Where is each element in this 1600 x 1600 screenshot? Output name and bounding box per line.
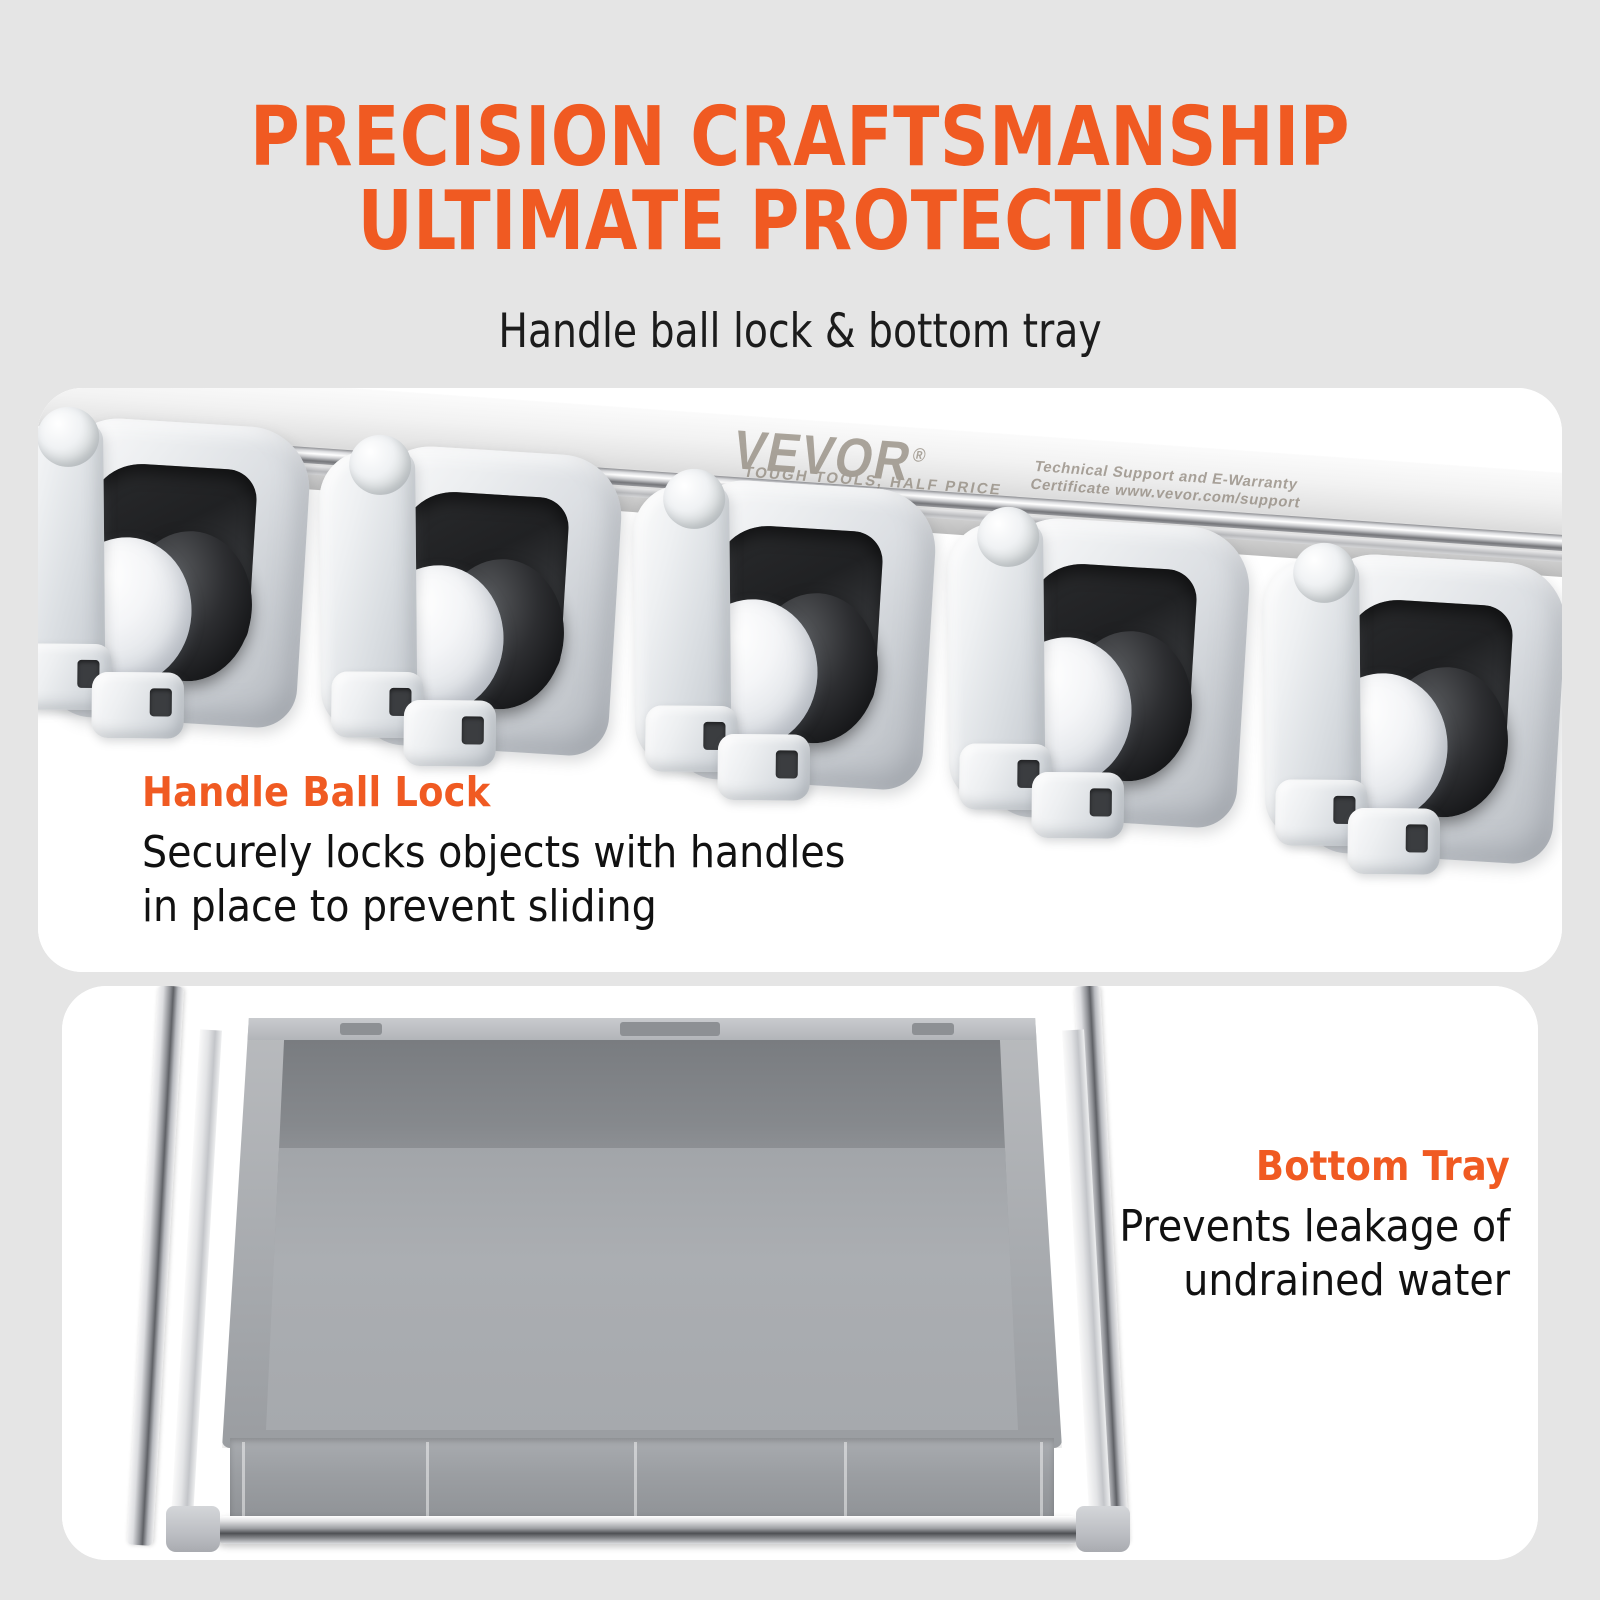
bottom-tray	[222, 1018, 1062, 1448]
ball-lock-module	[931, 512, 1287, 961]
tray-rib	[1040, 1442, 1043, 1526]
frame-foot-right	[1076, 1506, 1130, 1552]
callout-body-line-1: Securely locks objects with handles	[142, 826, 845, 880]
tray-rib	[242, 1442, 245, 1526]
headline-line-2: ULTIMATE PROTECTION	[64, 180, 1536, 264]
tray-rib	[844, 1442, 847, 1526]
callout-body: Prevents leakage of undrained water	[1040, 1200, 1510, 1308]
frame-side-rail-left	[170, 1029, 222, 1529]
ball-lock-module	[1247, 548, 1562, 972]
latch-clip	[91, 672, 184, 739]
callout-body-line-1: Prevents leakage of	[1040, 1200, 1510, 1254]
page-subtitle: Handle ball lock & bottom tray	[56, 304, 1544, 360]
headline-line-1: PRECISION CRAFTSMANSHIP	[64, 96, 1536, 180]
tray-floor	[266, 1148, 1018, 1430]
latch-clip	[403, 700, 496, 767]
callout-body-line-2: undrained water	[1040, 1254, 1510, 1308]
frame-crossbar	[212, 1516, 1084, 1544]
latch-clip	[1347, 808, 1440, 875]
tray-tab	[340, 1023, 382, 1035]
callout-title: Bottom Tray	[1040, 1142, 1510, 1190]
tray-rib	[634, 1442, 637, 1526]
frame-foot-left	[166, 1506, 220, 1552]
latch-notch	[150, 688, 172, 716]
latch-notch	[1090, 788, 1112, 816]
callout-title: Handle Ball Lock	[142, 768, 845, 816]
callout-handle-ball-lock: Handle Ball Lock Securely locks objects …	[142, 768, 845, 934]
latch-notch	[1406, 824, 1428, 852]
latch-notch	[462, 716, 484, 744]
callout-body: Securely locks objects with handles in p…	[142, 826, 845, 934]
callout-bottom-tray: Bottom Tray Prevents leakage of undraine…	[1040, 1142, 1510, 1308]
brand-support-text: Technical Support and E-Warranty Certifi…	[1029, 458, 1307, 512]
tray-interior	[266, 1040, 1018, 1430]
tray-tab	[620, 1022, 720, 1036]
header-band: PRECISION CRAFTSMANSHIP ULTIMATE PROTECT…	[0, 0, 1600, 388]
tray-rib	[426, 1442, 429, 1526]
tray-tab	[912, 1023, 954, 1035]
callout-body-line-2: in place to prevent sliding	[142, 880, 845, 934]
latch-clip	[1031, 772, 1124, 839]
page-title: PRECISION CRAFTSMANSHIP ULTIMATE PROTECT…	[64, 96, 1536, 264]
